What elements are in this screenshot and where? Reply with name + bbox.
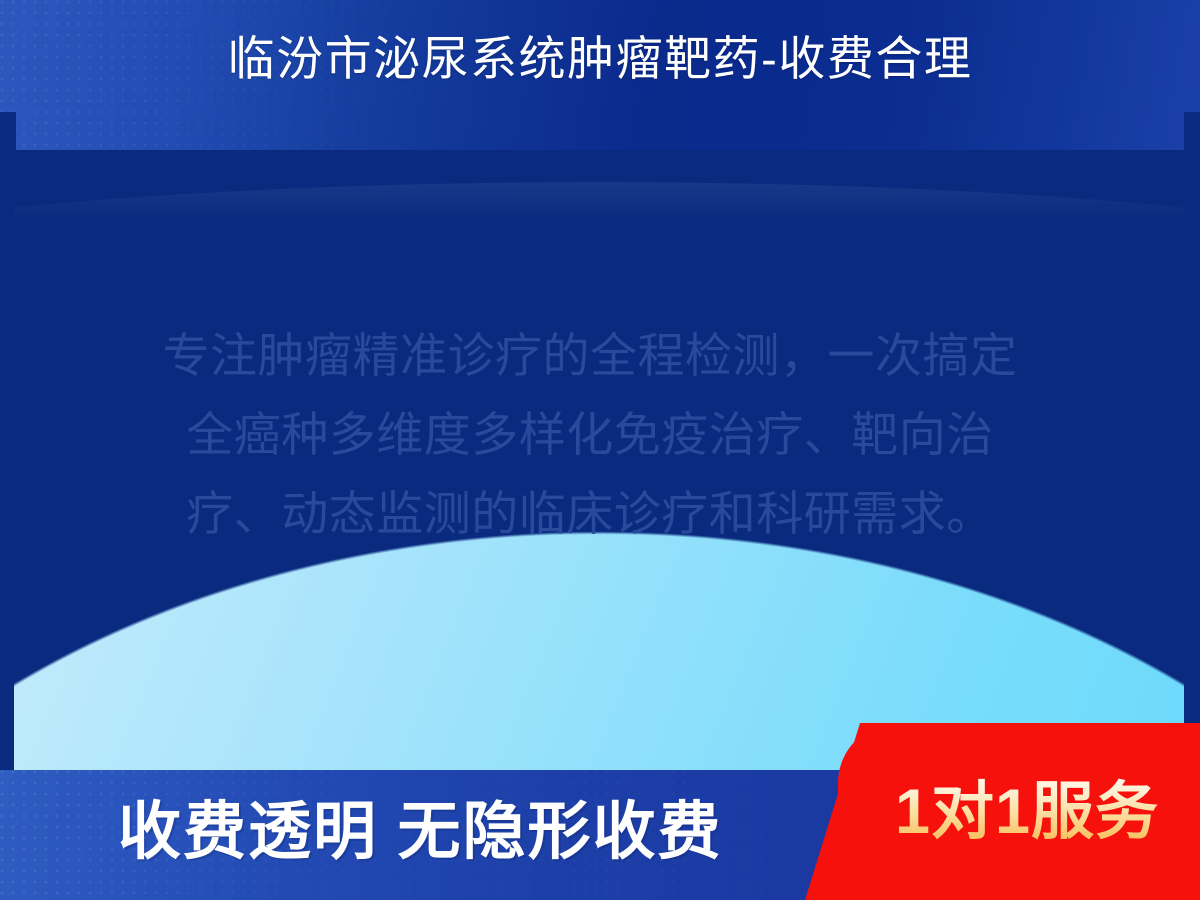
footer-tagline: 收费透明 无隐形收费 xyxy=(118,790,723,874)
body-description: 专注肿瘤精准诊疗的全程检测，一次搞定全癌种多维度多样化免疫治疗、靶向治疗、动态监… xyxy=(150,316,1030,553)
right-rail xyxy=(1184,112,1200,772)
service-badge[interactable]: 1对1服务 xyxy=(790,723,1200,900)
service-badge-label: 1对1服务 xyxy=(862,771,1192,853)
promo-banner: 临汾市泌尿系统肿瘤靶药-收费合理 专注肿瘤精准诊疗的全程检测，一次搞定全癌种多维… xyxy=(0,0,1200,900)
page-title: 临汾市泌尿系统肿瘤靶药-收费合理 xyxy=(0,28,1200,90)
